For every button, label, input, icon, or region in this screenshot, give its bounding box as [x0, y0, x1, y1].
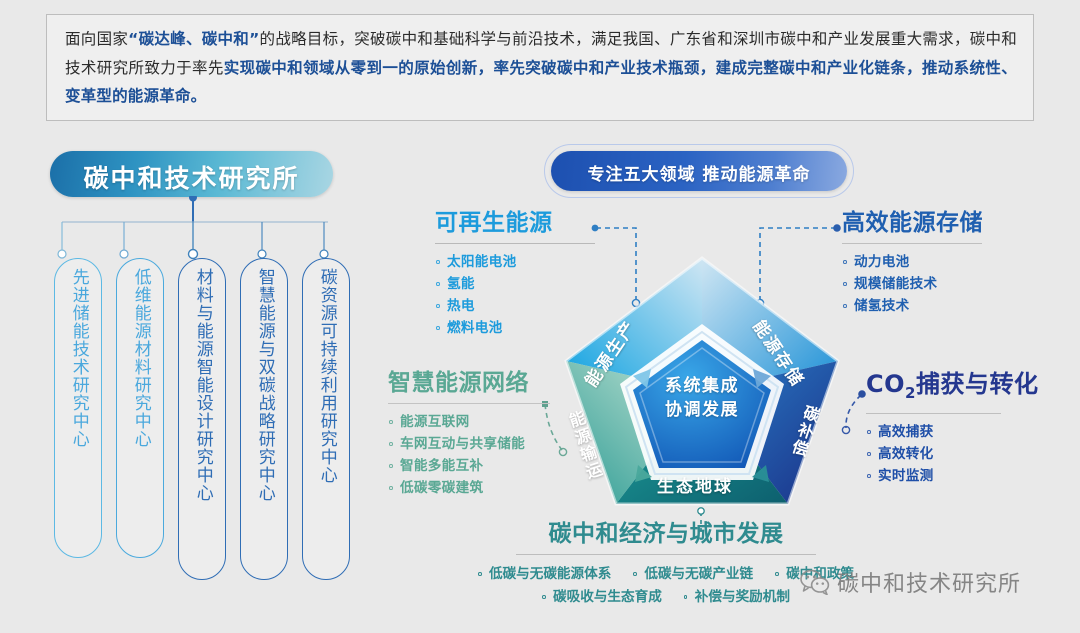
section-renewable-energy: 可再生能源 太阳能电池氢能热电燃料电池 [435, 208, 595, 339]
research-center-capsule-3[interactable]: 智慧能源与双碳战略研究中心 [240, 258, 288, 580]
infographic-canvas: 面向国家“碳达峰、碳中和”的战略目标，突破碳中和基础科学与前沿技术，满足我国、广… [0, 0, 1080, 633]
co2-title-post: 捕获与转化 [916, 370, 1039, 398]
wechat-icon [800, 569, 830, 595]
research-center-capsule-0[interactable]: 先进储能技术研究中心 [54, 258, 102, 558]
research-center-label-4: 碳资源可持续利用研究中心 [315, 268, 337, 484]
org-tree-connectors [40, 196, 350, 266]
list-item: 氢能 [435, 273, 595, 295]
list-item: 高效转化 [866, 443, 1038, 465]
list-item: 补偿与奖励机制 [684, 586, 790, 609]
intro-highlight: “碳达峰、碳中和” [128, 30, 259, 48]
list-item: 规模储能技术 [842, 273, 983, 295]
section-rule-smart-grid [388, 403, 550, 404]
section-co2-capture: CO2捕获与转化 高效捕获高效转化实时监测 [866, 369, 1038, 487]
pentagon-core-line2: 协调发展 [611, 398, 793, 422]
list-item: 燃料电池 [435, 317, 595, 339]
section-smart-energy-network: 智慧能源网络 能源互联网车网互动与共享储能智能多能互补低碳零碳建筑 [388, 368, 550, 499]
section-rule-co2 [866, 413, 1001, 414]
list-item: 低碳与无碳产业链 [633, 563, 753, 586]
section-energy-storage: 高效能源存储 动力电池规模储能技术储氢技术 [842, 208, 983, 317]
list-item: 热电 [435, 295, 595, 317]
list-item: 高效捕获 [866, 421, 1038, 443]
watermark: 碳中和技术研究所 [800, 566, 1021, 598]
focus-banner-label: 专注五大领域 推动能源革命 [551, 160, 847, 185]
list-item: 储氢技术 [842, 295, 983, 317]
pentagon-core-line1: 系统集成 [611, 374, 793, 398]
list-item: 太阳能电池 [435, 251, 595, 273]
research-center-label-1: 低维能源材料研究中心 [129, 268, 151, 448]
section-rule-renewable [435, 243, 595, 244]
co2-title-sub: 2 [905, 384, 916, 402]
research-centers-list: 先进储能技术研究中心 低维能源材料研究中心 材料与能源智能设计研究中心 智慧能源… [40, 258, 350, 580]
research-center-label-0: 先进储能技术研究中心 [67, 268, 89, 448]
pentagon-label-eco-earth: 生态地球 [657, 472, 733, 497]
section-rule-economy [516, 554, 816, 555]
list-item: 智能多能互补 [388, 455, 550, 477]
intro-statement-box: 面向国家“碳达峰、碳中和”的战略目标，突破碳中和基础科学与前沿技术，满足我国、广… [46, 14, 1034, 121]
section-title-storage: 高效能源存储 [842, 208, 983, 238]
list-item: 碳吸收与生态育成 [542, 586, 662, 609]
focus-banner-pill: 专注五大领域 推动能源革命 [551, 151, 847, 191]
list-item: 能源互联网 [388, 411, 550, 433]
research-center-label-3: 智慧能源与双碳战略研究中心 [253, 268, 275, 502]
research-center-capsule-1[interactable]: 低维能源材料研究中心 [116, 258, 164, 558]
research-center-capsule-4[interactable]: 碳资源可持续利用研究中心 [302, 258, 350, 580]
list-item: 动力电池 [842, 251, 983, 273]
list-item: 低碳与无碳能源体系 [478, 563, 611, 586]
section-title-renewable: 可再生能源 [435, 208, 595, 238]
pentagon-core-label: 系统集成 协调发展 [611, 374, 793, 422]
section-items-smart-grid: 能源互联网车网互动与共享储能智能多能互补低碳零碳建筑 [388, 411, 550, 499]
intro-statement-text: 面向国家“碳达峰、碳中和”的战略目标，突破碳中和基础科学与前沿技术，满足我国、广… [65, 25, 1017, 111]
section-items-co2: 高效捕获高效转化实时监测 [866, 421, 1038, 487]
intro-plain: 面向国家 [65, 30, 128, 48]
list-item: 车网互动与共享储能 [388, 433, 550, 455]
watermark-label: 碳中和技术研究所 [837, 566, 1021, 598]
section-items-storage: 动力电池规模储能技术储氢技术 [842, 251, 983, 317]
section-title-co2: CO2捕获与转化 [866, 369, 1038, 408]
co2-title-pre: CO [866, 370, 905, 398]
list-item: 低碳零碳建筑 [388, 477, 550, 499]
section-title-economy: 碳中和经济与城市发展 [466, 519, 866, 549]
pentagon-diagram: 能源生产 能源存储 能源输运 碳补偿 生态地球 系统集成 协调发展 [556, 256, 848, 528]
institute-title-label: 碳中和技术研究所 [50, 159, 333, 195]
list-item: 实时监测 [866, 465, 1038, 487]
section-items-renewable: 太阳能电池氢能热电燃料电池 [435, 251, 595, 339]
institute-title-pill: 碳中和技术研究所 [50, 151, 333, 197]
section-rule-storage [842, 243, 982, 244]
research-center-capsule-2[interactable]: 材料与能源智能设计研究中心 [178, 258, 226, 580]
research-center-label-2: 材料与能源智能设计研究中心 [191, 268, 213, 502]
section-title-smart-grid: 智慧能源网络 [388, 368, 550, 398]
